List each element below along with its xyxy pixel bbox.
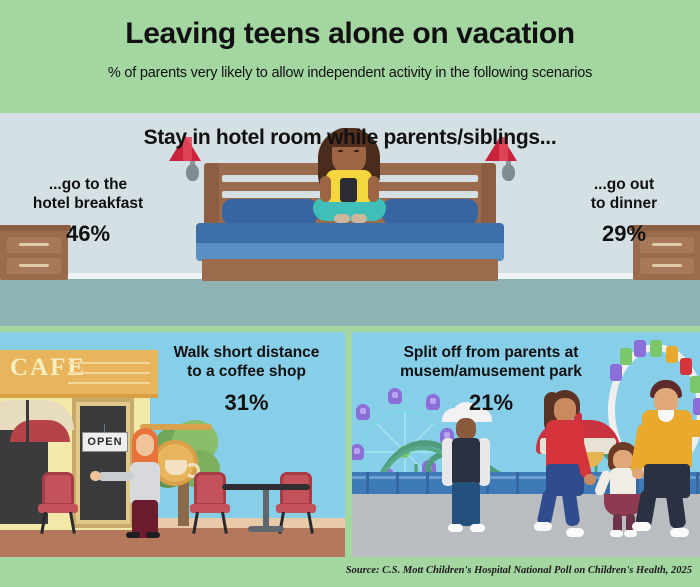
- stat-label-line1: ...go to the: [8, 176, 168, 195]
- patio-chair: [38, 472, 78, 534]
- stat-label-line1: ...go out: [556, 176, 692, 195]
- coffee-shop-panel: CAFE OPEN: [0, 332, 345, 557]
- stat-label-line2: musem/amusement park: [360, 363, 622, 382]
- stat-amusement-park: Split off from parents at musem/amusemen…: [360, 344, 622, 416]
- smartphone-icon: [340, 178, 357, 202]
- stat-value: 21%: [360, 390, 622, 416]
- stat-label-line1: Split off from parents at: [360, 344, 622, 363]
- stat-value: 46%: [8, 221, 168, 247]
- stat-value: 29%: [556, 221, 692, 247]
- stat-coffee-shop: Walk short distance to a coffee shop 31%: [154, 344, 339, 416]
- stat-hotel-dinner: ...go out to dinner 29%: [556, 176, 692, 247]
- cafe-awning: CAFE: [0, 350, 158, 398]
- stat-hotel-breakfast: ...go to the hotel breakfast 46%: [8, 176, 168, 247]
- teen-figure: [434, 408, 500, 536]
- page-subtitle: % of parents very likely to allow indepe…: [0, 65, 700, 81]
- stat-label-line1: Walk short distance: [154, 344, 339, 363]
- hotel-room-panel: Stay in hotel room while parents/sibling…: [0, 113, 700, 326]
- stat-label-line2: to a coffee shop: [154, 363, 339, 382]
- stat-value: 31%: [154, 390, 339, 416]
- stat-label-line2: hotel breakfast: [8, 195, 168, 214]
- umbrella-pole: [26, 400, 29, 520]
- footer-band: Source: C.S. Mott Children's Hospital Na…: [0, 557, 700, 587]
- cafe-sign-text: CAFE: [10, 354, 86, 382]
- stat-label-line2: to dinner: [556, 195, 692, 214]
- amusement-park-panel: Split off from parents at musem/amusemen…: [352, 332, 700, 557]
- infographic-root: Leaving teens alone on vacation % of par…: [0, 0, 700, 587]
- woman-figure: [120, 428, 168, 538]
- header-band: Leaving teens alone on vacation % of par…: [0, 0, 700, 106]
- umbrella-panel: [10, 420, 70, 442]
- page-title: Leaving teens alone on vacation: [0, 17, 700, 51]
- ferris-cabin: [352, 444, 364, 460]
- hotel-panel-heading: Stay in hotel room while parents/sibling…: [0, 126, 700, 150]
- source-citation: Source: C.S. Mott Children's Hospital Na…: [346, 565, 692, 576]
- father-figure: [636, 380, 700, 538]
- patio-table: [222, 484, 310, 534]
